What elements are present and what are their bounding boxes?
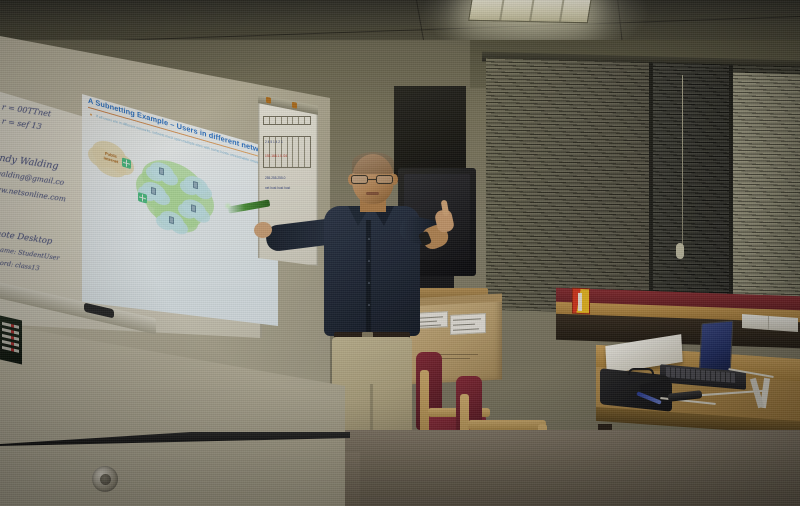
blinds-pull-cord[interactable]: [682, 75, 683, 245]
window-blinds[interactable]: [486, 58, 800, 319]
handwriting-remote-desktop: Remote Desktop: [0, 227, 53, 247]
chart-row-1: 2 4 5 1 4 2 1: [265, 140, 283, 144]
laser-pointer-beam: [224, 202, 232, 210]
door-knob[interactable]: [100, 474, 111, 485]
chart-row-3: 255.255.255.0: [265, 176, 285, 180]
shirt-placket: [366, 220, 371, 332]
host-icon: [169, 216, 174, 224]
handwriting-line-2: r = sef 13: [1, 117, 42, 132]
wall-control-panel[interactable]: [0, 315, 22, 364]
handwriting-website: www.netsonline.com: [0, 183, 67, 203]
shipping-label-2: [450, 313, 486, 335]
glasses-icon: [351, 175, 395, 185]
bullet-marker: [90, 113, 92, 116]
host-icon: [191, 204, 196, 212]
fluorescent-light-panel: [468, 0, 592, 23]
classroom-scene: r = 00TTnet r = sef 13 Andy Walding awal…: [0, 0, 800, 506]
host-icon: [159, 167, 164, 175]
presenter-mouth: [366, 192, 379, 195]
host-icon: [193, 181, 198, 189]
firewall-icon-secondary: [138, 192, 147, 204]
handwriting-line-1: r = 00TTnet: [1, 102, 51, 118]
chart-row-4: net host host host: [265, 186, 290, 190]
red-yellow-box[interactable]: [572, 288, 590, 315]
handwriting-name: Andy Walding: [0, 152, 59, 172]
host-icon: [151, 187, 156, 195]
bag-handle[interactable]: [628, 368, 654, 375]
presenter-hair: [352, 152, 394, 174]
chart-header-row: [263, 116, 311, 125]
white-stand[interactable]: [752, 378, 778, 408]
chart-row-2: 192.168.1.0 /24: [265, 154, 287, 158]
